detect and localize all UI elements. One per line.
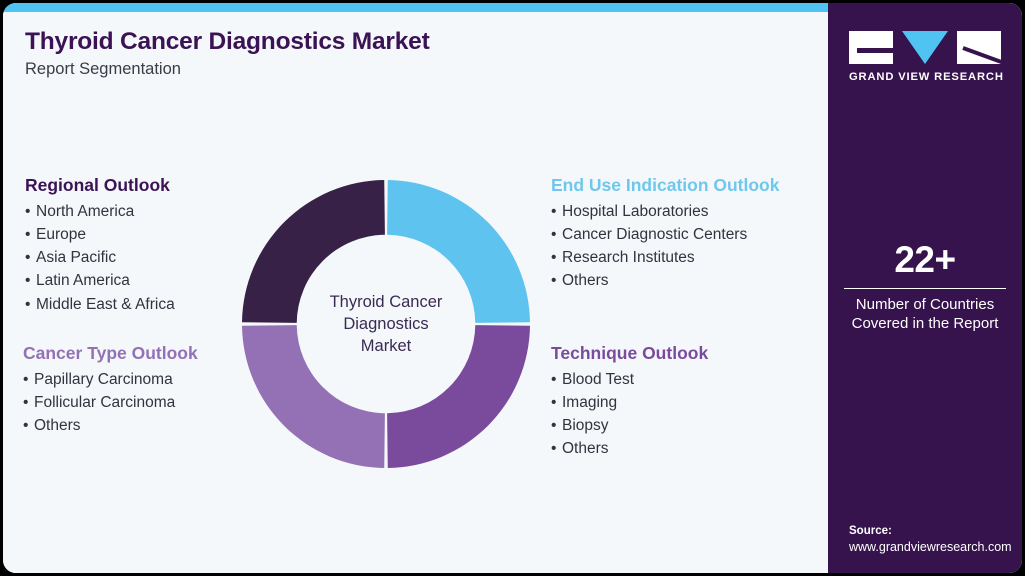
bullet-icon: • [23, 391, 34, 414]
donut-chart-svg [237, 180, 535, 468]
source-title: Source: [849, 523, 1019, 539]
stat-divider [844, 288, 1006, 289]
list-item-label: North America [36, 203, 134, 220]
list-item: •Imaging [551, 391, 851, 414]
header: Thyroid Cancer Diagnostics Market Report… [25, 27, 805, 80]
list-item-label: Blood Test [562, 371, 634, 388]
list-item-label: Others [34, 417, 81, 434]
list-item-label: Biopsy [562, 417, 609, 434]
list-item-label: Europe [36, 226, 86, 243]
stat-label-line-1: Number of Countries [840, 295, 1010, 314]
source-url[interactable]: www.grandviewresearch.com [849, 539, 1019, 556]
list-item-label: Cancer Diagnostic Centers [562, 226, 747, 243]
bullet-icon: • [551, 200, 562, 223]
list-item-label: Papillary Carcinoma [34, 371, 173, 388]
bullet-icon: • [25, 246, 36, 269]
list-item: •Cancer Diagnostic Centers [551, 223, 851, 246]
list-item: •Blood Test [551, 368, 851, 391]
brand-logo: GRAND VIEW RESEARCH [849, 31, 1001, 83]
list-item-label: Middle East & Africa [36, 296, 175, 313]
list-item-label: Latin America [36, 272, 130, 289]
page-subtitle: Report Segmentation [25, 60, 805, 80]
top-accent-bar [3, 3, 828, 12]
bullet-icon: • [551, 437, 562, 460]
stat-label: Number of Countries Covered in the Repor… [840, 295, 1010, 333]
bullet-icon: • [25, 269, 36, 292]
logo-wordmark: GRAND VIEW RESEARCH [849, 71, 1001, 83]
infographic-card: Thyroid Cancer Diagnostics Market Report… [3, 3, 1022, 573]
triangle-down-icon [902, 31, 948, 64]
list-item-label: Imaging [562, 394, 617, 411]
list-item-label: Hospital Laboratories [562, 203, 708, 220]
list-item-label: Research Institutes [562, 249, 695, 266]
stat-value: 22+ [840, 241, 1010, 280]
segment-list-end-use-indication-outlook: •Hospital Laboratories •Cancer Diagnosti… [551, 200, 851, 293]
list-item: •Others [551, 437, 851, 460]
bullet-icon: • [551, 246, 562, 269]
bullet-icon: • [551, 414, 562, 437]
bullet-icon: • [25, 223, 36, 246]
list-item-label: Others [562, 272, 609, 289]
bullet-icon: • [551, 223, 562, 246]
donut-slice [242, 180, 385, 323]
side-panel: GRAND VIEW RESEARCH 22+ Number of Countr… [828, 3, 1022, 573]
segment-list-technique-outlook: •Blood Test •Imaging •Biopsy •Others [551, 368, 851, 461]
segment-block-end-use-indication-outlook: End Use Indication Outlook •Hospital Lab… [551, 175, 851, 293]
page-title: Thyroid Cancer Diagnostics Market [25, 27, 805, 56]
list-item-label: Asia Pacific [36, 249, 116, 266]
donut-slice [387, 325, 530, 468]
bullet-icon: • [25, 293, 36, 316]
infographic-root: Thyroid Cancer Diagnostics Market Report… [0, 0, 1025, 576]
bullet-icon: • [25, 200, 36, 223]
segment-heading-technique-outlook: Technique Outlook [551, 343, 851, 365]
list-item-label: Others [562, 440, 609, 457]
bullet-icon: • [23, 414, 34, 437]
list-item: •Biopsy [551, 414, 851, 437]
logo-marks [849, 31, 1001, 64]
bullet-icon: • [551, 368, 562, 391]
list-item: •Hospital Laboratories [551, 200, 851, 223]
stat-label-line-2: Covered in the Report [840, 314, 1010, 333]
segment-block-technique-outlook: Technique Outlook •Blood Test •Imaging •… [551, 343, 851, 461]
stat-block-countries: 22+ Number of Countries Covered in the R… [840, 241, 1010, 333]
donut-slice [387, 180, 530, 323]
list-item: •Research Institutes [551, 246, 851, 269]
logo-letter-r-icon [957, 31, 1001, 64]
main-content-pane: Thyroid Cancer Diagnostics Market Report… [3, 12, 828, 573]
list-item-label: Follicular Carcinoma [34, 394, 175, 411]
donut-chart: Thyroid Cancer Diagnostics Market [237, 180, 535, 468]
donut-slice [242, 325, 385, 468]
list-item: •Others [551, 269, 851, 292]
segment-heading-end-use-indication-outlook: End Use Indication Outlook [551, 175, 851, 197]
source-block: Source: www.grandviewresearch.com [849, 523, 1019, 556]
bullet-icon: • [23, 368, 34, 391]
logo-letter-g-icon [849, 31, 893, 64]
logo-letter-v-triangle-icon [902, 31, 948, 64]
bullet-icon: • [551, 269, 562, 292]
bullet-icon: • [551, 391, 562, 414]
